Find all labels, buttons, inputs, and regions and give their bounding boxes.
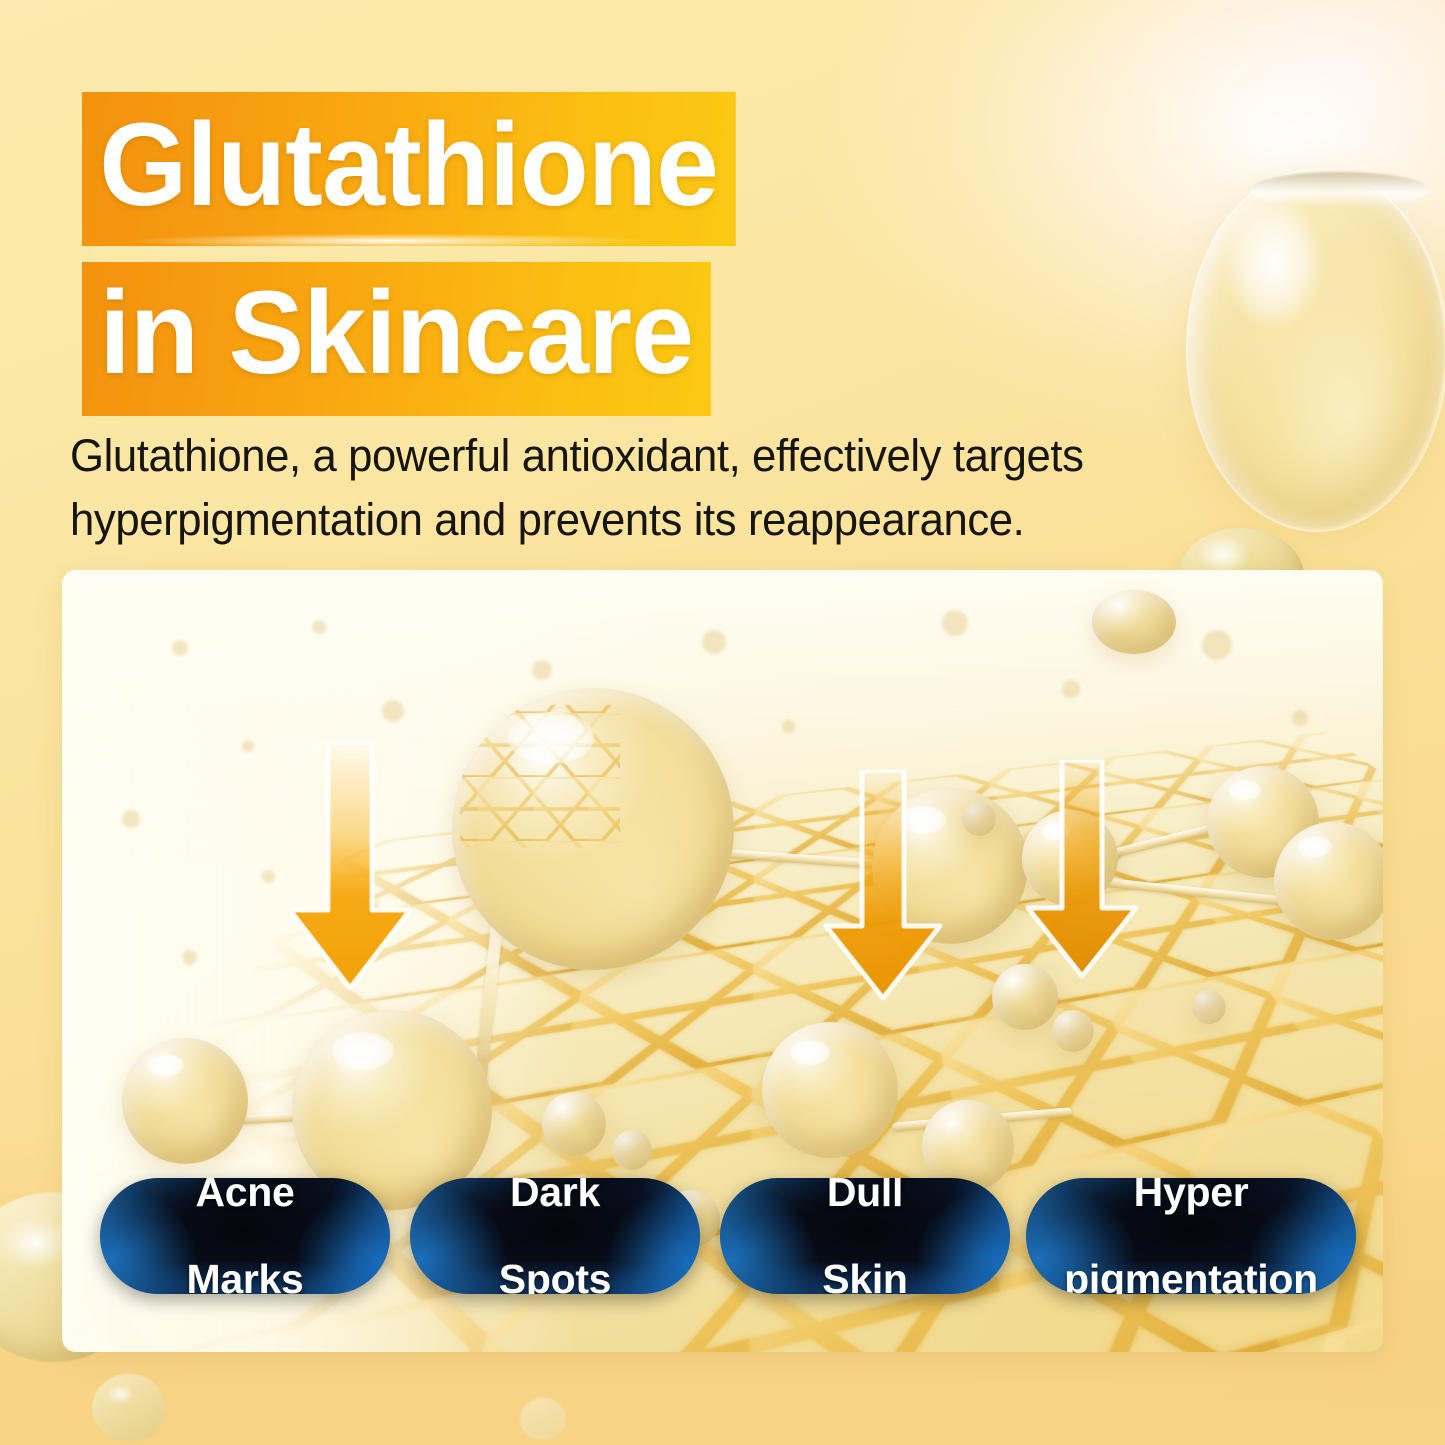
bokeh-dot (122, 810, 140, 828)
bokeh-dot (382, 700, 404, 722)
pill-acne-marks-line2: Marks (186, 1258, 303, 1294)
sphere-highlight (1298, 836, 1332, 857)
pill-dull-skin[interactable]: Dull Skin (720, 1178, 1010, 1294)
pill-acne-marks-line1: Acne (186, 1178, 303, 1214)
pill-dark-spots-line1: Dark (499, 1178, 611, 1214)
pill-dull-skin-line2: Skin (822, 1258, 907, 1294)
down-arrow-1 (284, 742, 416, 992)
title-line-2: in Skincare (82, 262, 710, 416)
bokeh-dot (942, 610, 968, 636)
large-serum-bubble-rim (1186, 168, 1445, 532)
bokeh-dot (182, 950, 197, 965)
bokeh-dot (532, 660, 552, 680)
molecule-sphere (762, 1022, 898, 1158)
bokeh-dot (1062, 680, 1080, 698)
down-arrow-2 (820, 770, 946, 1002)
sphere-highlight (508, 712, 594, 764)
down-arrow-3 (1022, 760, 1142, 980)
molecule-sphere-small (1192, 990, 1226, 1024)
sphere-highlight (1229, 780, 1261, 800)
molecule-sphere (1274, 822, 1383, 940)
bokeh-dot (1202, 630, 1232, 660)
sphere-highlight (148, 1054, 184, 1076)
pill-dark-spots-line2: Spots (499, 1258, 611, 1294)
pill-hyperpigmentation-line2: pigmentation (1064, 1258, 1318, 1294)
bokeh-dot (312, 620, 326, 634)
infographic-poster: Glutathione in Skincare Glutathione, a p… (0, 0, 1445, 1445)
bokeh-dot (702, 630, 726, 654)
concern-pill-row: Acne Marks Dark Spots Dull Skin Hyper pi… (0, 1178, 1445, 1298)
floating-droplet (1092, 590, 1176, 654)
large-serum-bubble-cap (1250, 172, 1430, 208)
sphere-honeycomb-texture (452, 688, 734, 970)
bokeh-dot (262, 870, 275, 883)
bokeh-dot (1292, 710, 1308, 726)
page-title: Glutathione in Skincare (82, 92, 763, 416)
pill-hyperpigmentation-line1: Hyper (1064, 1178, 1318, 1214)
pill-hyperpigmentation[interactable]: Hyper pigmentation (1026, 1178, 1356, 1294)
sphere-highlight (332, 1032, 394, 1070)
title-line-1: Glutathione (82, 92, 735, 246)
molecule-sphere-small (612, 1130, 652, 1170)
bokeh-dot (782, 720, 795, 733)
molecule-sphere-small (542, 1092, 606, 1156)
molecule-sphere (122, 1038, 248, 1164)
molecule-sphere-small (1052, 1010, 1094, 1052)
subtitle-text: Glutathione, a powerful antioxidant, eff… (70, 424, 1224, 552)
hero-glutathione-sphere (452, 688, 734, 970)
pill-acne-marks[interactable]: Acne Marks (100, 1178, 390, 1294)
pill-dull-skin-line1: Dull (822, 1178, 907, 1214)
sphere-highlight (790, 1040, 830, 1065)
bokeh-dot (242, 740, 254, 752)
pill-dark-spots[interactable]: Dark Spots (410, 1178, 700, 1294)
molecule-sphere-small (962, 802, 996, 836)
bokeh-dot (172, 640, 188, 656)
